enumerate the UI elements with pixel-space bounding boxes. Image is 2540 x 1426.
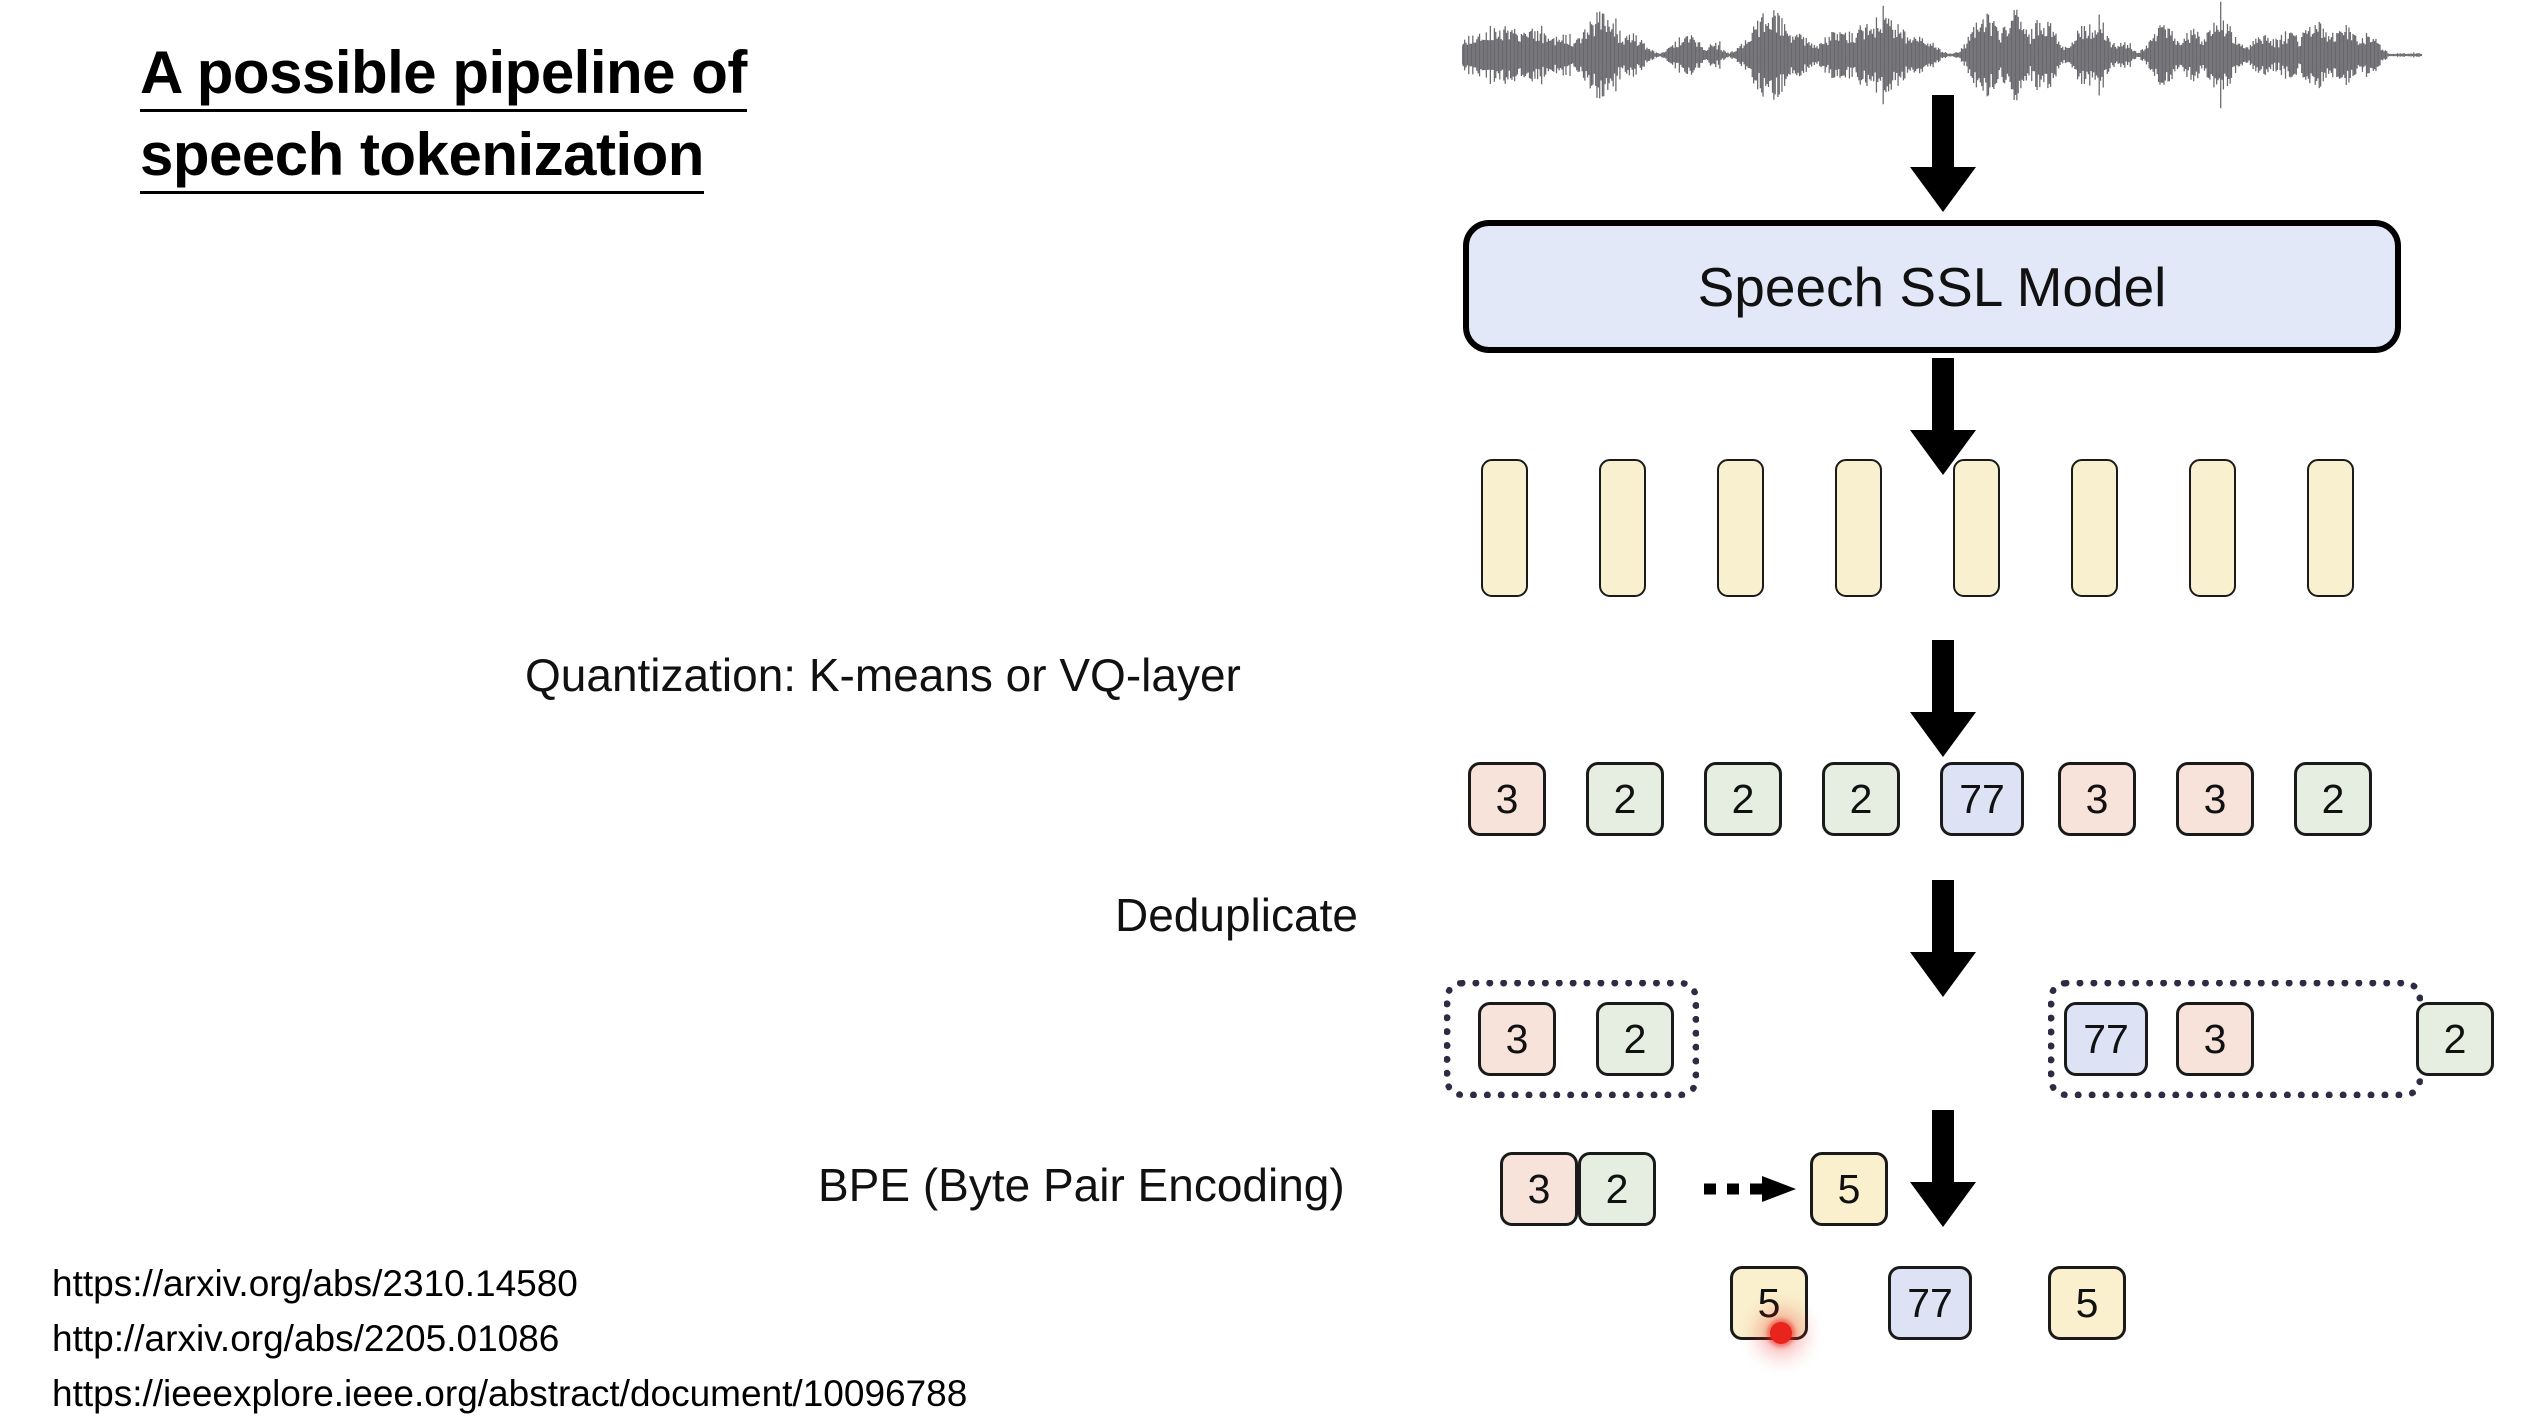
token-2[interactable]: 2 (1822, 762, 1900, 836)
token-value: 3 (1496, 776, 1519, 823)
slide-canvas: A possible pipeline of speech tokenizati… (0, 0, 2540, 1426)
token-77[interactable]: 77 (1888, 1266, 1972, 1340)
feature-frame (1835, 459, 1882, 597)
token-2[interactable]: 2 (2294, 762, 2372, 836)
token-value: 2 (1624, 1016, 1647, 1063)
token-value: 5 (1758, 1280, 1781, 1327)
quantization-label: Quantization: K-means or VQ-layer (525, 648, 1241, 702)
token-value: 3 (2204, 776, 2227, 823)
feature-frame-row (1481, 459, 2354, 597)
token-value: 2 (2322, 776, 2345, 823)
audio-waveform (1462, 0, 2422, 110)
token-value: 2 (1606, 1166, 1629, 1213)
token-5[interactable]: 5 (1810, 1152, 1888, 1226)
reference-links: https://arxiv.org/abs/2310.14580 http://… (52, 1256, 967, 1421)
token-value: 3 (2204, 1016, 2227, 1063)
token-value: 77 (2083, 1016, 2129, 1063)
token-value: 5 (2076, 1280, 2099, 1327)
token-value: 2 (2444, 1016, 2467, 1063)
token-5[interactable]: 5 (2048, 1266, 2126, 1340)
token-3[interactable]: 3 (2176, 762, 2254, 836)
token-2[interactable]: 2 (1704, 762, 1782, 836)
token-value: 77 (1959, 776, 2005, 823)
arrow-waveform-to-model (1908, 95, 1978, 213)
token-5[interactable]: 5 (1730, 1266, 1808, 1340)
bpe-dotted-arrow-icon (1702, 1174, 1802, 1204)
token-value: 2 (1614, 776, 1637, 823)
reference-link-3[interactable]: https://ieeexplore.ieee.org/abstract/doc… (52, 1366, 967, 1421)
arrow-features-to-tokens (1908, 640, 1978, 758)
token-value: 2 (1850, 776, 1873, 823)
reference-link-1[interactable]: https://arxiv.org/abs/2310.14580 (52, 1256, 967, 1311)
speech-ssl-model-label: Speech SSL Model (1698, 255, 2167, 319)
token-3[interactable]: 3 (2176, 1002, 2254, 1076)
feature-frame (1481, 459, 1528, 597)
bpe-label: BPE (Byte Pair Encoding) (818, 1158, 1345, 1212)
feature-frame (2189, 459, 2236, 597)
feature-frame (1599, 459, 1646, 597)
token-2[interactable]: 2 (1586, 762, 1664, 836)
laser-pointer-dot (1770, 1322, 1792, 1344)
token-value: 3 (1506, 1016, 1529, 1063)
token-2[interactable]: 2 (1578, 1152, 1656, 1226)
page-title-line-1: A possible pipeline of (140, 42, 747, 112)
feature-frame (2307, 459, 2354, 597)
arrow-dedup-to-final (1908, 1110, 1978, 1228)
token-3[interactable]: 3 (1478, 1002, 1556, 1076)
page-title-line-2: speech tokenization (140, 124, 704, 194)
token-value: 2 (1732, 776, 1755, 823)
token-3[interactable]: 3 (1468, 762, 1546, 836)
feature-frame (2071, 459, 2118, 597)
token-value: 5 (1838, 1166, 1861, 1213)
token-2[interactable]: 2 (1596, 1002, 1674, 1076)
reference-link-2[interactable]: http://arxiv.org/abs/2205.01086 (52, 1311, 967, 1366)
token-value: 77 (1907, 1280, 1953, 1327)
deduplicate-label: Deduplicate (1115, 888, 1358, 942)
speech-ssl-model-box[interactable]: Speech SSL Model (1463, 220, 2401, 353)
token-value: 3 (2086, 776, 2109, 823)
token-3[interactable]: 3 (2058, 762, 2136, 836)
token-77[interactable]: 77 (2064, 1002, 2148, 1076)
token-value: 3 (1528, 1166, 1551, 1213)
feature-frame (1717, 459, 1764, 597)
arrow-tokens-to-dedup (1908, 880, 1978, 998)
page-title: A possible pipeline of speech tokenizati… (140, 42, 940, 206)
feature-frame (1953, 459, 2000, 597)
token-3[interactable]: 3 (1500, 1152, 1578, 1226)
token-77[interactable]: 77 (1940, 762, 2024, 836)
token-2[interactable]: 2 (2416, 1002, 2494, 1076)
